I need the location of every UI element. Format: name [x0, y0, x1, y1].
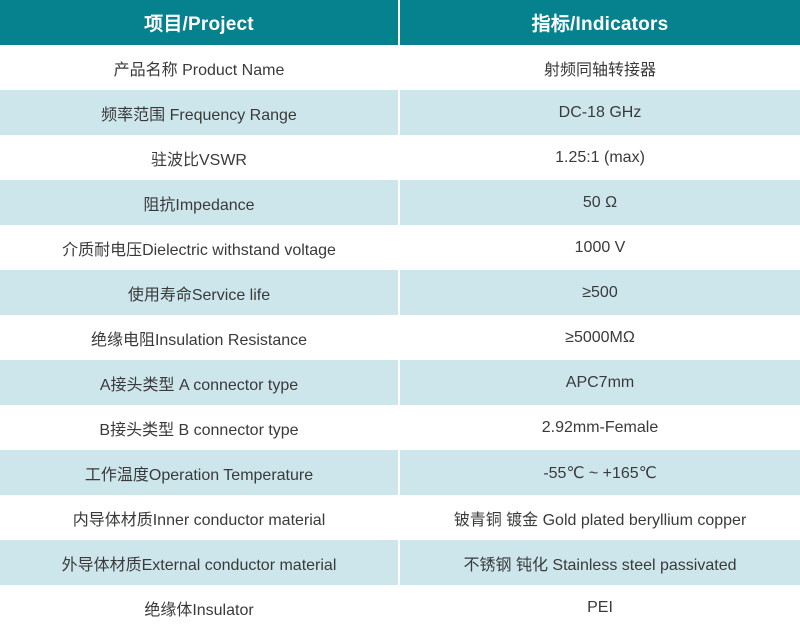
cell-project: 介质耐电压Dielectric withstand voltage	[0, 225, 400, 270]
cell-project: A接头类型 A connector type	[0, 360, 400, 405]
cell-indicator: ≥500	[400, 270, 800, 315]
cell-project: 阻抗Impedance	[0, 180, 400, 225]
cell-indicator: 不锈钢 钝化 Stainless steel passivated	[400, 540, 800, 585]
cell-project: 绝缘体Insulator	[0, 585, 400, 630]
cell-indicator: 射频同轴转接器	[400, 45, 800, 90]
table-row: 驻波比VSWR1.25:1 (max)	[0, 135, 800, 180]
column-header-project: 项目/Project	[0, 0, 400, 45]
product-specification-table: 项目/Project 指标/Indicators 产品名称 Product Na…	[0, 0, 800, 630]
cell-project: 绝缘电阻Insulation Resistance	[0, 315, 400, 360]
table-row: A接头类型 A connector typeAPC7mm	[0, 360, 800, 405]
cell-indicator: APC7mm	[400, 360, 800, 405]
cell-indicator: 50 Ω	[400, 180, 800, 225]
table-header-row: 项目/Project 指标/Indicators	[0, 0, 800, 45]
table-row: 产品名称 Product Name射频同轴转接器	[0, 45, 800, 90]
cell-project: 使用寿命Service life	[0, 270, 400, 315]
table-row: 绝缘电阻Insulation Resistance≥5000MΩ	[0, 315, 800, 360]
cell-project: 产品名称 Product Name	[0, 45, 400, 90]
cell-project: 内导体材质Inner conductor material	[0, 495, 400, 540]
cell-indicator: 铍青铜 镀金 Gold plated beryllium copper	[400, 495, 800, 540]
cell-indicator: 2.92mm-Female	[400, 405, 800, 450]
cell-project: 频率范围 Frequency Range	[0, 90, 400, 135]
table-row: 阻抗Impedance50 Ω	[0, 180, 800, 225]
cell-indicator: 1.25:1 (max)	[400, 135, 800, 180]
cell-project: 驻波比VSWR	[0, 135, 400, 180]
cell-indicator: DC-18 GHz	[400, 90, 800, 135]
cell-project: 工作温度Operation Temperature	[0, 450, 400, 495]
cell-project: B接头类型 B connector type	[0, 405, 400, 450]
table-row: 绝缘体InsulatorPEI	[0, 585, 800, 630]
table-body: 产品名称 Product Name射频同轴转接器频率范围 Frequency R…	[0, 45, 800, 630]
cell-project: 外导体材质External conductor material	[0, 540, 400, 585]
table-row: 内导体材质Inner conductor material铍青铜 镀金 Gold…	[0, 495, 800, 540]
table-row: 使用寿命Service life≥500	[0, 270, 800, 315]
cell-indicator: ≥5000MΩ	[400, 315, 800, 360]
cell-indicator: 1000 V	[400, 225, 800, 270]
cell-indicator: PEI	[400, 585, 800, 630]
cell-indicator: -55℃ ~ +165℃	[400, 450, 800, 495]
table-row: 频率范围 Frequency RangeDC-18 GHz	[0, 90, 800, 135]
table-row: 外导体材质External conductor material不锈钢 钝化 S…	[0, 540, 800, 585]
table-row: 工作温度Operation Temperature-55℃ ~ +165℃	[0, 450, 800, 495]
column-header-indicators: 指标/Indicators	[400, 0, 800, 45]
table-row: 介质耐电压Dielectric withstand voltage1000 V	[0, 225, 800, 270]
table-row: B接头类型 B connector type2.92mm-Female	[0, 405, 800, 450]
